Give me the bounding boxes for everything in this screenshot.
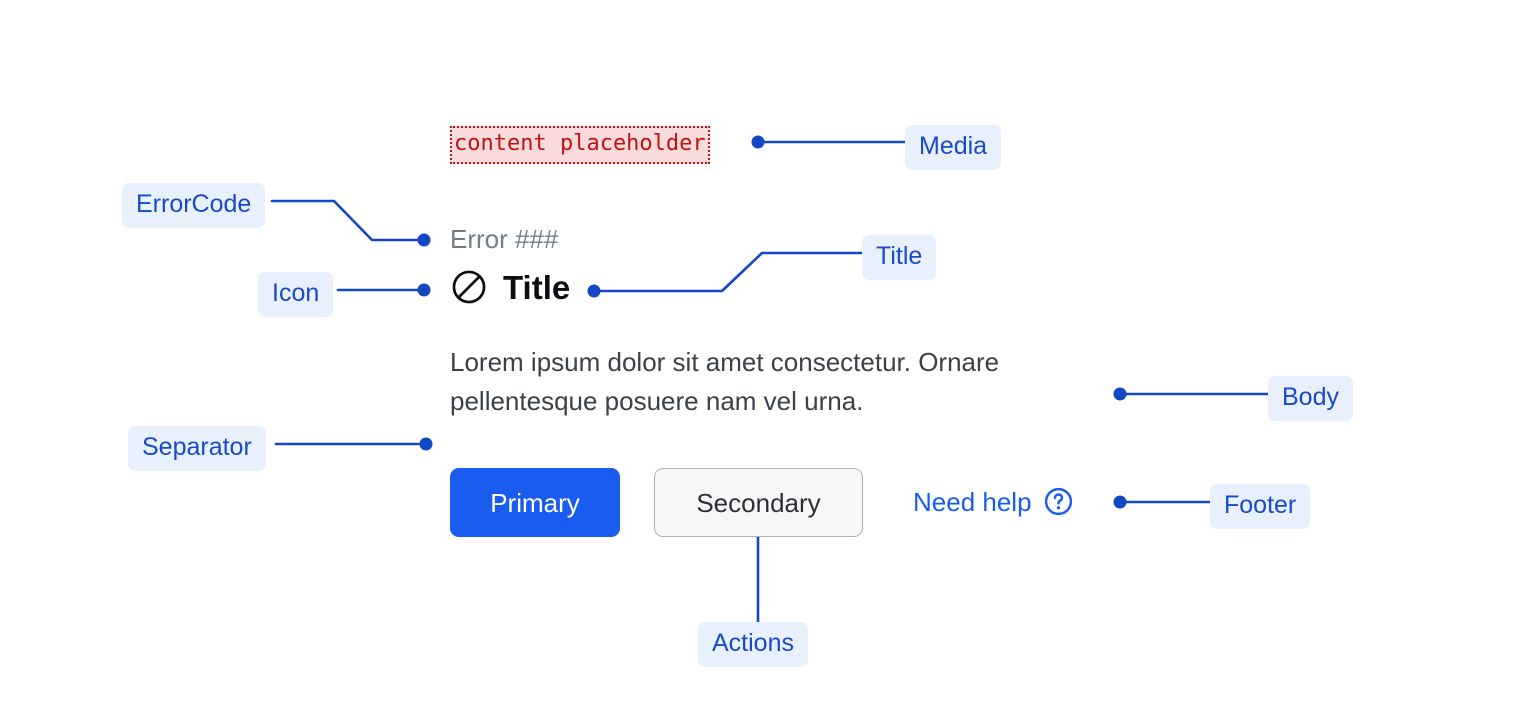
annotation-pill-errorcode[interactable]: ErrorCode <box>122 183 265 228</box>
connector-media <box>752 136 907 149</box>
card-actions-row: Primary Secondary <box>450 468 863 537</box>
error-code-text: Error ### <box>450 226 558 252</box>
need-help-link[interactable]: Need help <box>913 486 1074 517</box>
prohibited-icon <box>450 268 488 306</box>
need-help-label: Need help <box>913 489 1032 515</box>
connector-actions <box>752 525 765 624</box>
card-body-text: Lorem ipsum dolor sit amet consectetur. … <box>450 343 1100 421</box>
annotation-pill-media[interactable]: Media <box>905 125 1001 170</box>
annotation-diagram-canvas: Media ErrorCode Icon Title Body Separato… <box>0 0 1536 724</box>
connector-icon <box>338 284 431 297</box>
connector-title <box>588 253 863 298</box>
secondary-button[interactable]: Secondary <box>654 468 863 537</box>
media-content-placeholder: content placeholder <box>450 126 710 164</box>
title-row: Title <box>450 268 570 306</box>
connector-errorcode <box>272 201 431 247</box>
annotation-pill-footer[interactable]: Footer <box>1210 484 1310 529</box>
connector-separator <box>276 438 433 451</box>
annotation-pill-title[interactable]: Title <box>862 235 936 280</box>
annotation-pill-actions[interactable]: Actions <box>698 622 808 667</box>
question-circle-icon <box>1043 486 1074 517</box>
annotation-pill-separator[interactable]: Separator <box>128 426 266 471</box>
connector-footer <box>1114 496 1212 509</box>
annotation-pill-body[interactable]: Body <box>1268 376 1353 421</box>
annotation-pill-icon[interactable]: Icon <box>258 272 333 317</box>
card-title: Title <box>503 271 570 304</box>
primary-button[interactable]: Primary <box>450 468 620 537</box>
connector-body <box>1114 388 1270 401</box>
